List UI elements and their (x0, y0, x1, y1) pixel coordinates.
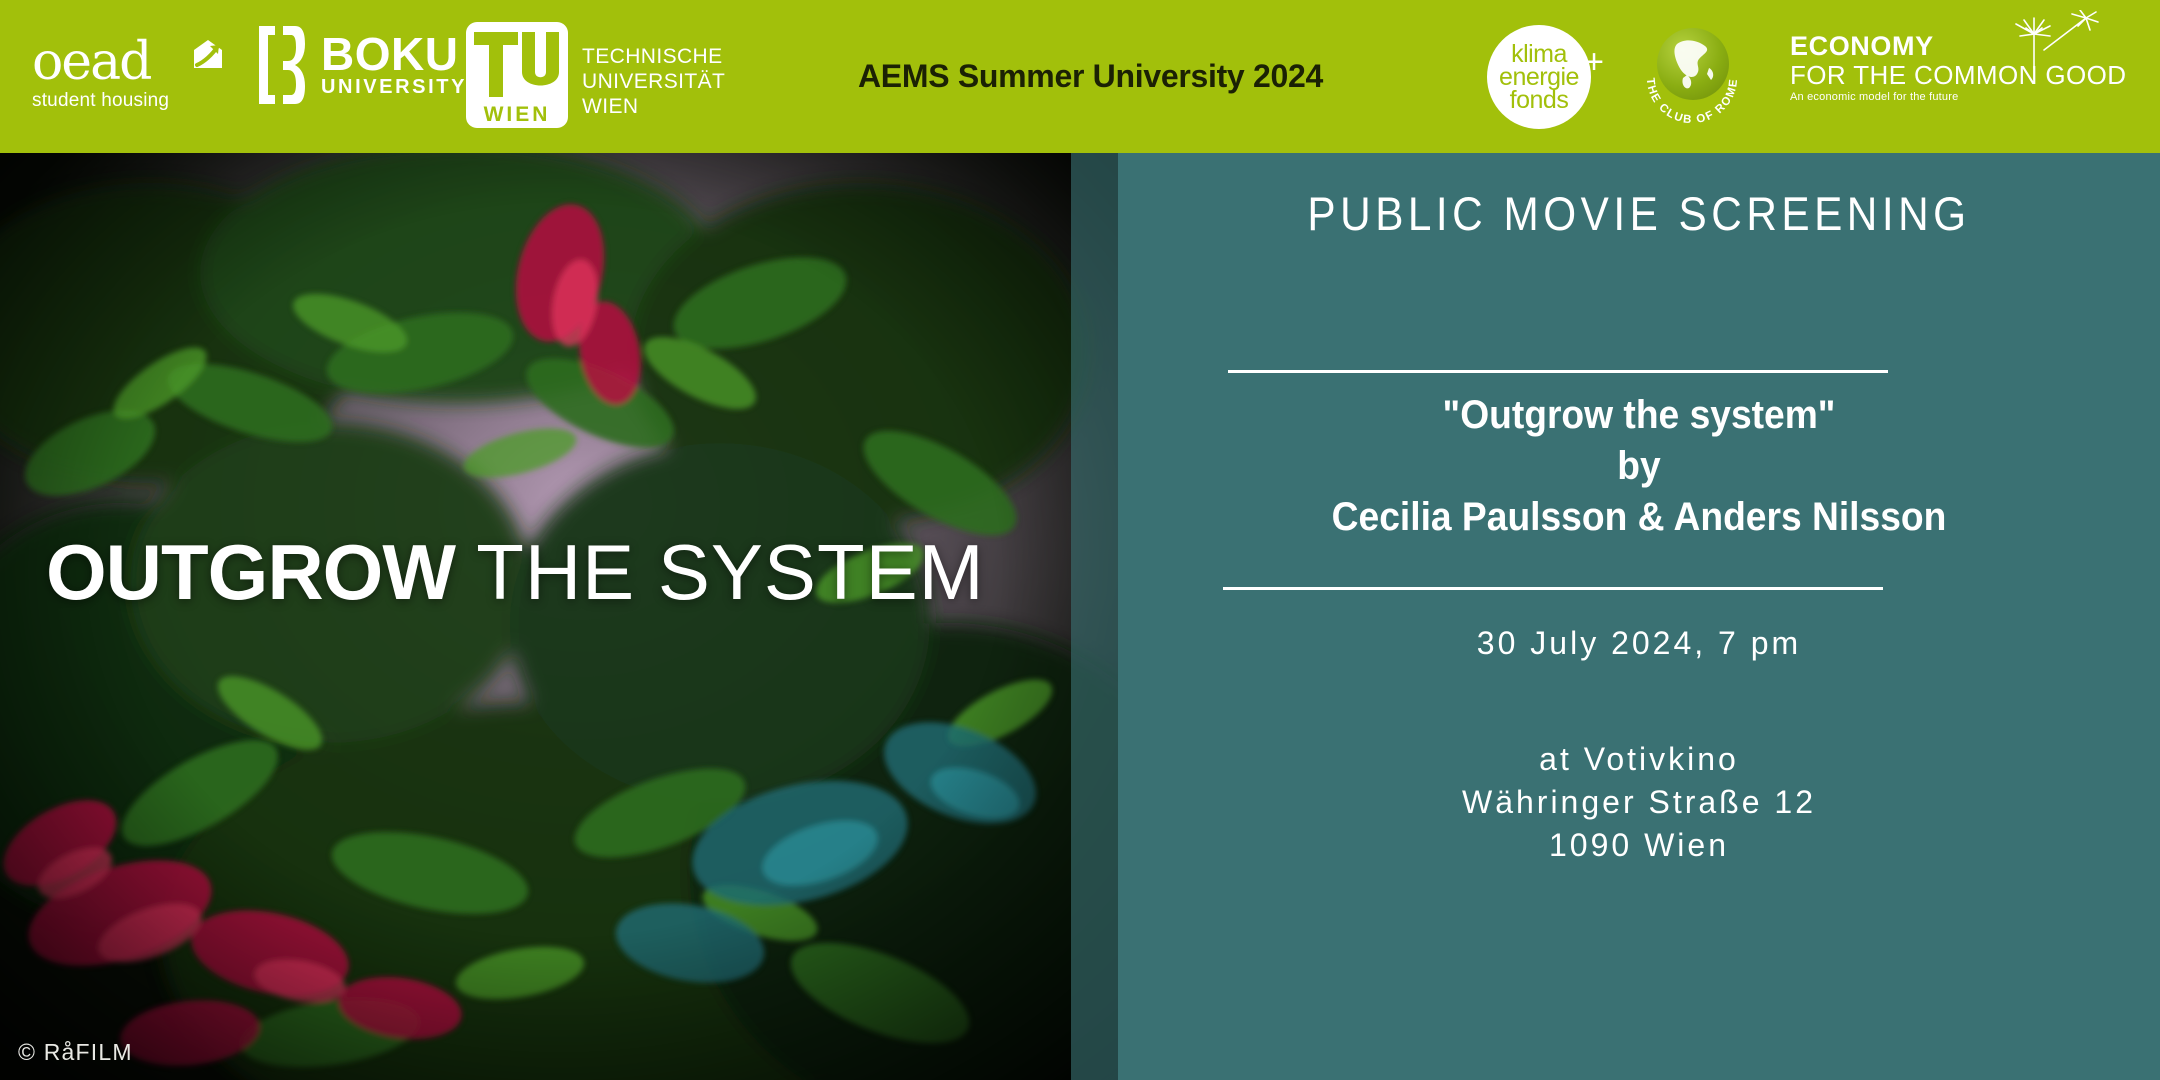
divider-top (1228, 370, 1888, 373)
tu-line-1: TECHNISCHE (582, 44, 725, 69)
economy-common-good-logo: ECONOMY FOR THE COMMON GOOD An economic … (1790, 32, 2126, 104)
film-title-light: THE SYSTEM (455, 528, 985, 616)
kef-wordmark: klima energie fonds (1487, 43, 1591, 112)
venue-street: Währinger Straße 12 (1118, 781, 2160, 824)
moss-photo (0, 153, 1118, 1080)
film-title-bold: OUTGROW (46, 528, 455, 616)
kef-line-3: fonds (1487, 89, 1591, 112)
boku-subtitle: UNIVERSITY (321, 76, 467, 98)
panel-film-title: "Outgrow the system" (1154, 390, 2123, 441)
panel-heading: PUBLIC MOVIE SCREENING (1170, 186, 2108, 241)
venue-name: at Votivkino (1118, 738, 2160, 781)
bracket-icon (255, 24, 307, 106)
boku-wordmark: BOKU (321, 32, 467, 76)
dandelion-icon (2000, 10, 2130, 70)
sponsor-header-bar: oead student housing BOKU UNIVERSITY (0, 0, 2160, 153)
kef-plus-sign: + (1584, 47, 1604, 77)
leaf-icon (188, 38, 226, 74)
divider-bottom (1223, 587, 1883, 590)
film-title-overlay: OUTGROW THE SYSTEM (46, 533, 985, 611)
klima-energie-fonds-logo: klima energie fonds + (1487, 25, 1591, 129)
event-series-title: AEMS Summer University 2024 (858, 58, 1323, 95)
tu-line-3: WIEN (582, 94, 725, 119)
tu-wien-name: TECHNISCHE UNIVERSITÄT WIEN (582, 22, 725, 119)
ecg-line-3: An economic model for the future (1790, 90, 2126, 104)
panel-by-label: by (1154, 441, 2123, 492)
tu-monogram-icon: WIEN (466, 22, 568, 128)
photo-credit: © RåFILM (18, 1039, 133, 1066)
panel-directors: Cecilia Paulsson & Anders Nilsson (1154, 492, 2123, 543)
oead-tagline: student housing (32, 90, 222, 112)
svg-text:WIEN: WIEN (484, 103, 551, 126)
event-venue: at Votivkino Währinger Straße 12 1090 Wi… (1118, 738, 2160, 867)
venue-city: 1090 Wien (1118, 824, 2160, 867)
tu-line-2: UNIVERSITÄT (582, 69, 725, 94)
event-datetime: 30 July 2024, 7 pm (1118, 625, 2160, 662)
boku-logo: BOKU UNIVERSITY (255, 24, 467, 106)
event-info-panel: PUBLIC MOVIE SCREENING "Outgrow the syst… (1118, 153, 2160, 1080)
tu-wien-mark: WIEN (466, 22, 568, 128)
film-still: OUTGROW THE SYSTEM © RåFILM (0, 153, 1118, 1080)
tu-wien-logo: WIEN TECHNISCHE UNIVERSITÄT WIEN (466, 22, 725, 128)
oead-logo: oead student housing (32, 36, 222, 116)
film-credits-block: "Outgrow the system" by Cecilia Paulsson… (1154, 390, 2123, 543)
club-of-rome-ring-text: THE CLUB OF ROME (1637, 22, 1747, 132)
event-poster: oead student housing BOKU UNIVERSITY (0, 0, 2160, 1080)
panel-fade-band (1071, 153, 1118, 1080)
club-of-rome-logo: THE CLUB OF ROME (1637, 22, 1747, 132)
svg-text:THE CLUB OF ROME: THE CLUB OF ROME (1644, 77, 1740, 126)
